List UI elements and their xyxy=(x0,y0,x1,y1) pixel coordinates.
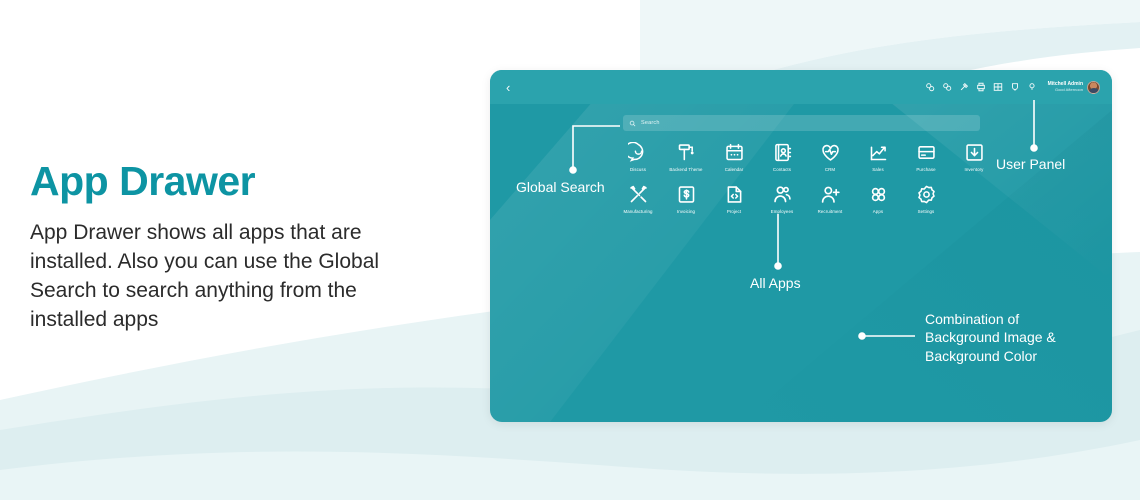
manufacturing-icon xyxy=(628,184,649,205)
employees-icon xyxy=(772,184,793,205)
app-label: Backend Theme xyxy=(669,167,702,172)
app-label: Calendar xyxy=(725,167,744,172)
search-input[interactable]: Search xyxy=(623,115,980,131)
bug-icon[interactable] xyxy=(959,82,969,92)
app-tile-calendar[interactable]: Calendar xyxy=(710,142,758,172)
apps-icon xyxy=(868,184,889,205)
settings-icon xyxy=(916,184,937,205)
header-right-group: Mitchell Admin Good Afternoon xyxy=(925,81,1100,94)
user-panel[interactable]: Mitchell Admin Good Afternoon xyxy=(1048,81,1100,94)
app-tile-invoicing[interactable]: Invoicing xyxy=(662,184,710,214)
grid-icon[interactable] xyxy=(993,82,1003,92)
debug-icon[interactable] xyxy=(1010,82,1020,92)
app-label: Discuss xyxy=(630,167,646,172)
app-tile-purchase[interactable]: Purchase xyxy=(902,142,950,172)
app-tile-employees[interactable]: Employees xyxy=(758,184,806,214)
app-tile-apps[interactable]: Apps xyxy=(854,184,902,214)
sales-icon xyxy=(868,142,889,163)
panel-header: ‹ Mitchell Admin Good Afternoon xyxy=(490,70,1112,104)
app-tile-recruitment[interactable]: Recruitment xyxy=(806,184,854,214)
messages-icon[interactable] xyxy=(942,82,952,92)
annotation-all-apps: All Apps xyxy=(750,274,801,292)
help-icon[interactable] xyxy=(1027,82,1037,92)
app-label: Recruitment xyxy=(818,209,843,214)
backend-theme-icon xyxy=(676,142,697,163)
annotation-user-panel: User Panel xyxy=(996,155,1065,173)
invoicing-icon xyxy=(676,184,697,205)
app-tile-settings[interactable]: Settings xyxy=(902,184,950,214)
recruitment-icon xyxy=(820,184,841,205)
search-icon xyxy=(629,120,636,127)
hero-description: App Drawer shows all apps that are insta… xyxy=(30,219,390,335)
app-tile-sales[interactable]: Sales xyxy=(854,142,902,172)
inventory-icon xyxy=(964,142,985,163)
print-icon[interactable] xyxy=(976,82,986,92)
app-label: Project xyxy=(727,209,741,214)
calendar-icon xyxy=(724,142,745,163)
hero-copy: App Drawer App Drawer shows all apps tha… xyxy=(30,160,430,335)
crm-icon xyxy=(820,142,841,163)
app-label: Employees xyxy=(771,209,794,214)
app-tile-discuss[interactable]: Discuss xyxy=(614,142,662,172)
app-tile-manufacturing[interactable]: Manufacturing xyxy=(614,184,662,214)
page-title: App Drawer xyxy=(30,160,430,203)
user-greeting: Good Afternoon xyxy=(1055,88,1083,93)
app-label: Apps xyxy=(873,209,883,214)
purchase-icon xyxy=(916,142,937,163)
app-drawer-panel: ‹ Mitchell Admin Good Afternoon Search xyxy=(490,70,1112,422)
app-label: Settings xyxy=(918,209,935,214)
app-label: Manufacturing xyxy=(623,209,652,214)
activity-icon[interactable] xyxy=(925,82,935,92)
app-tile-inventory[interactable]: Inventory xyxy=(950,142,998,172)
user-text: Mitchell Admin Good Afternoon xyxy=(1048,82,1083,92)
app-label: Purchase xyxy=(916,167,935,172)
back-button[interactable]: ‹ xyxy=(502,79,514,96)
app-tile-backend-theme[interactable]: Backend Theme xyxy=(662,142,710,172)
search-placeholder: Search xyxy=(641,120,660,126)
annotation-background: Combination of Background Image & Backgr… xyxy=(925,310,1056,365)
app-label: Invoicing xyxy=(677,209,695,214)
avatar[interactable] xyxy=(1087,81,1100,94)
app-tile-crm[interactable]: CRM xyxy=(806,142,854,172)
app-label: Contacts xyxy=(773,167,791,172)
annotation-global-search: Global Search xyxy=(516,178,605,196)
app-grid: Discuss Backend Theme Calendar Contacts … xyxy=(614,142,998,214)
discuss-icon xyxy=(628,142,649,163)
app-tile-project[interactable]: Project xyxy=(710,184,758,214)
app-label: Sales xyxy=(872,167,883,172)
contacts-icon xyxy=(772,142,793,163)
app-label: CRM xyxy=(825,167,835,172)
app-tile-contacts[interactable]: Contacts xyxy=(758,142,806,172)
app-label: Inventory xyxy=(965,167,984,172)
project-icon xyxy=(724,184,745,205)
